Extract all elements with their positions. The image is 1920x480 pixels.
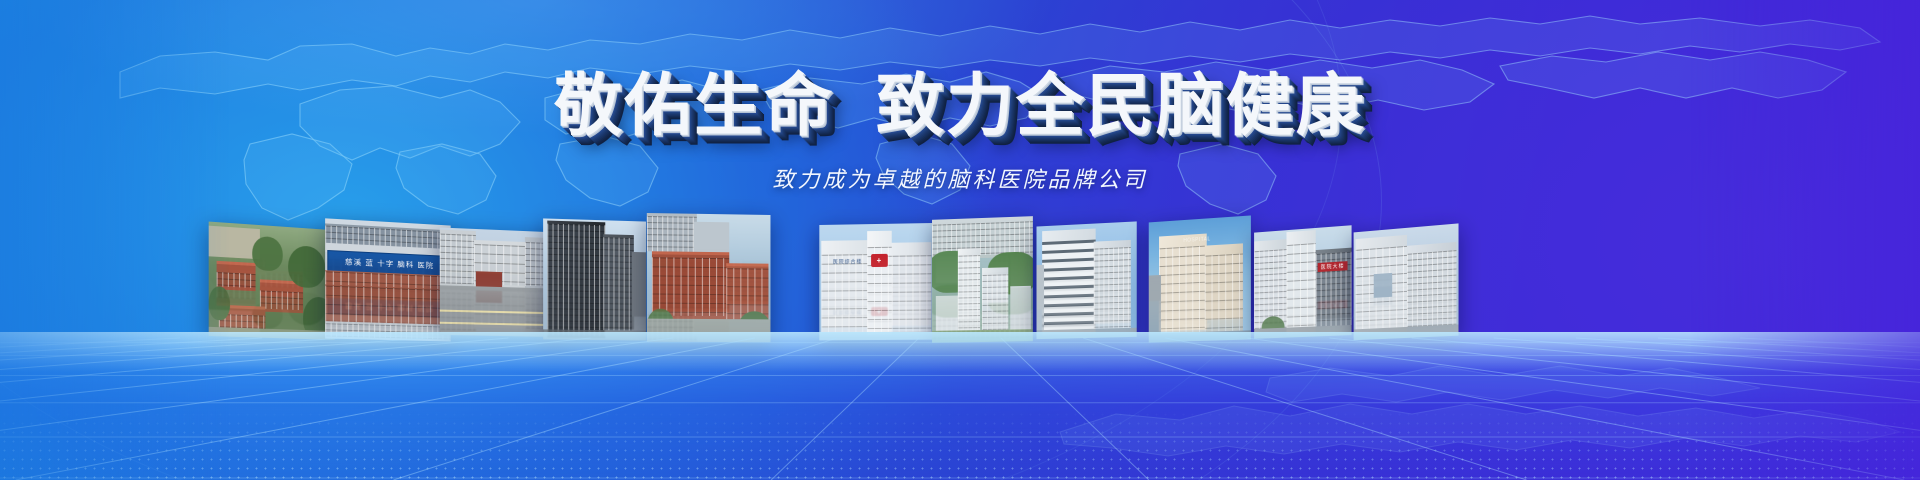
photo-reflection: 医院大楼 <box>1254 249 1351 338</box>
floor-grid <box>0 332 1920 480</box>
gallery-photo-7 <box>932 216 1033 343</box>
gallery-photo-6: + 医院综合楼 + 医院综合楼 <box>819 223 933 340</box>
photo-reflection <box>440 251 558 337</box>
gallery-photo-3 <box>440 227 558 337</box>
photo-content <box>1037 221 1137 339</box>
photo-content: 医院大楼 <box>1254 225 1351 339</box>
hero-banner: 敬佑生命 致力全民脑健康 致力成为卓越的脑科医院品牌公司 <box>0 0 1920 480</box>
gallery-photo-8 <box>1037 221 1137 339</box>
photo-reflection <box>1354 248 1459 340</box>
photo-reflection <box>1037 247 1137 339</box>
photo-content: + 医院综合楼 <box>819 223 933 340</box>
photo-content: 慈溪 蓝 十字 脑科 医院 <box>325 218 451 341</box>
gallery-photo-11 <box>1354 223 1459 340</box>
gallery-photo-10: 医院大楼 医院大楼 <box>1254 225 1351 339</box>
photo-content <box>209 222 335 340</box>
photo-content <box>932 216 1033 343</box>
page-title: 敬佑生命 致力全民脑健康 <box>0 70 1920 142</box>
horizon-glow <box>0 332 1920 372</box>
photo-content <box>1354 223 1459 340</box>
photo-content <box>440 227 558 337</box>
floor-map-reflection <box>1020 358 1920 478</box>
reflective-floor <box>0 332 1920 480</box>
photo-reflection: + 医院综合楼 <box>819 249 933 341</box>
gallery-photo-2: 慈溪 蓝 十字 脑科 医院 慈溪 蓝 十字 脑科 医院 <box>325 218 451 341</box>
page-subtitle: 致力成为卓越的脑科医院品牌公司 <box>0 166 1920 194</box>
gallery-photo-9: HOSPITAL HOSPITAL <box>1149 215 1251 342</box>
photo-content <box>647 213 771 342</box>
photo-reflection: HOSPITAL <box>1149 243 1251 343</box>
gallery-photo-1 <box>209 222 335 340</box>
photo-reflection <box>543 245 646 340</box>
gallery-photo-5 <box>647 213 771 342</box>
photo-reflection <box>209 247 335 340</box>
floor-dot-pattern <box>0 410 1920 480</box>
photo-content <box>543 218 646 340</box>
photo-reflection <box>932 244 1033 343</box>
photo-content: HOSPITAL <box>1149 215 1251 342</box>
gallery-photo-4 <box>543 218 646 340</box>
photo-reflection <box>647 241 771 342</box>
world-map-watermark <box>0 0 1920 294</box>
photo-reflection: 慈溪 蓝 十字 脑科 医院 <box>325 245 451 342</box>
